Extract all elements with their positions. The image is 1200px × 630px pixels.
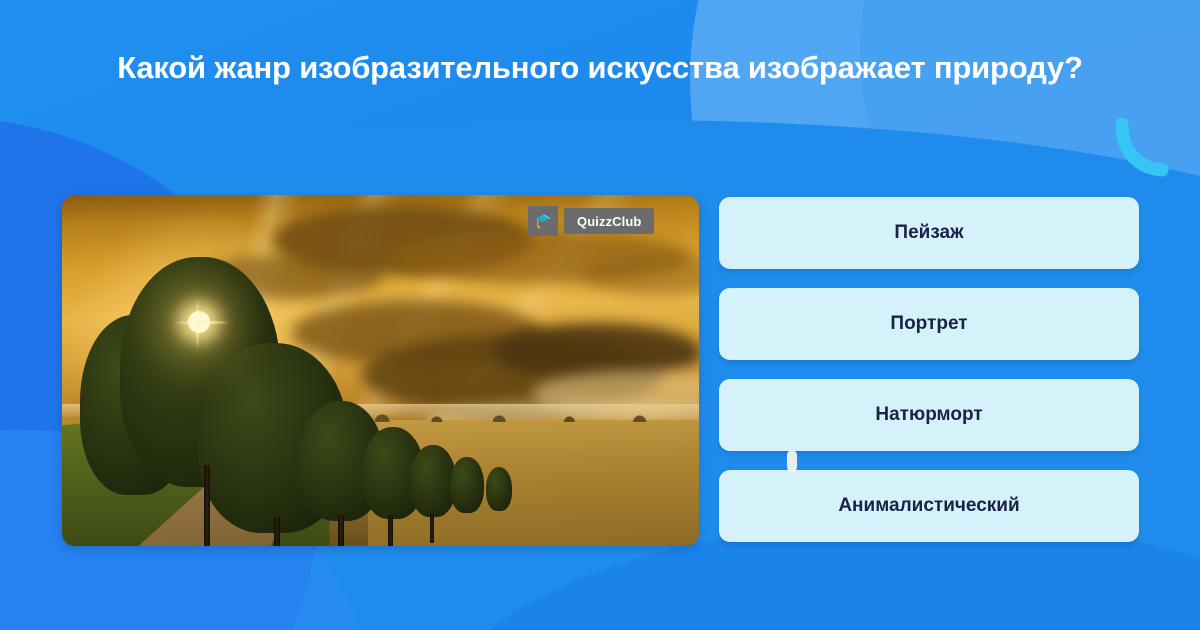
scrollbar-thumb[interactable] xyxy=(787,450,797,472)
answer-option-1[interactable]: Пейзаж xyxy=(719,197,1139,269)
question-image-card: QuizzClub xyxy=(62,195,699,546)
answer-option-label: Натюрморт xyxy=(875,404,982,426)
sun-ray-vertical xyxy=(196,299,199,349)
answer-option-label: Пейзаж xyxy=(894,222,963,244)
tree-trunk xyxy=(338,515,344,546)
answer-option-label: Анималистический xyxy=(838,495,1019,517)
tree-trunk xyxy=(388,515,393,546)
graduation-cap-icon xyxy=(533,211,553,231)
answer-options-list: Пейзаж Портрет Натюрморт Анималистически… xyxy=(719,197,1139,542)
answer-option-4[interactable]: Анималистический xyxy=(719,470,1139,542)
tree xyxy=(486,467,512,511)
watermark: QuizzClub xyxy=(528,206,654,236)
answer-option-2[interactable]: Портрет xyxy=(719,288,1139,360)
sun-ray-horizontal xyxy=(174,321,230,324)
tree-trunk xyxy=(274,517,280,546)
tree-trunk xyxy=(430,513,434,543)
quizzclub-logo xyxy=(528,206,558,236)
page-title: Какой жанр изобразительного искусства из… xyxy=(100,46,1100,89)
answer-option-3[interactable]: Натюрморт xyxy=(719,379,1139,451)
question-image xyxy=(62,195,699,546)
watermark-brand: QuizzClub xyxy=(564,208,654,234)
tree xyxy=(450,457,484,513)
answer-option-label: Портрет xyxy=(890,313,967,335)
tree-trunk xyxy=(204,465,210,546)
